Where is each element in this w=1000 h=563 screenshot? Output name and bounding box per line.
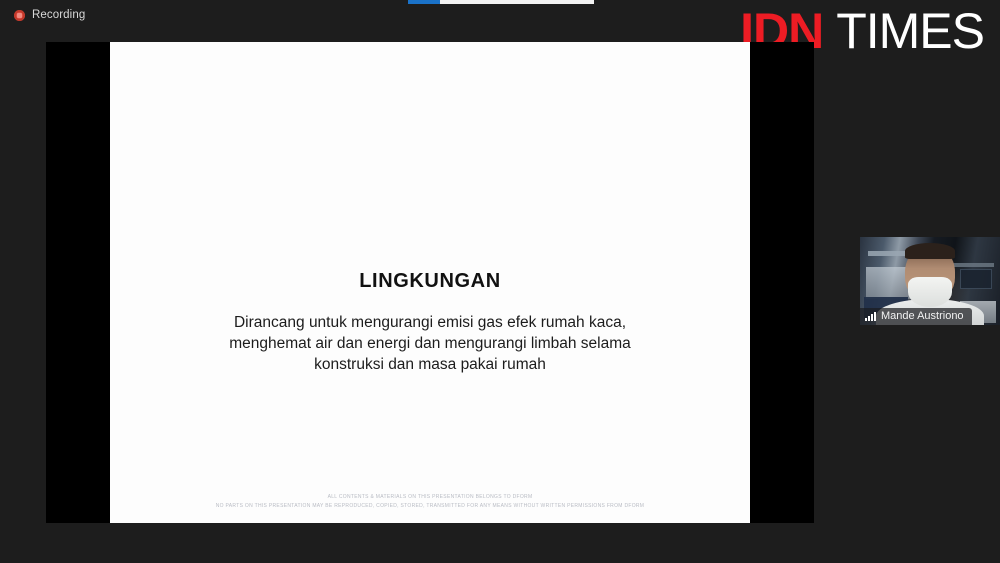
slide-copyright-footer: ALL CONTENTS & MATERIALS ON THIS PRESENT…	[110, 493, 750, 510]
participant-video-tile[interactable]: Mande Austriono	[860, 237, 1000, 325]
signal-bars-icon	[865, 311, 876, 321]
shared-screen-area[interactable]: LINGKUNGAN Dirancang untuk mengurangi em…	[46, 42, 814, 523]
background-shelf-right	[950, 263, 994, 267]
recording-indicator: Recording	[14, 9, 85, 21]
participant-hair	[905, 243, 955, 259]
participant-face-mask	[908, 277, 952, 307]
background-monitor	[960, 269, 992, 289]
loading-bar-fill	[408, 0, 440, 4]
participant-name-label: Mande Austriono	[881, 310, 964, 322]
participant-name-badge: Mande Austriono	[860, 308, 972, 325]
video-conference-window: Recording IDN TIMES LINGKUNGAN Dirancang…	[0, 0, 1000, 563]
record-dot-icon	[14, 10, 25, 21]
slide-footer-line-2: NO PARTS ON THIS PRESENTATION MAY BE REP…	[110, 501, 750, 511]
slide-content: LINGKUNGAN Dirancang untuk mengurangi em…	[110, 270, 750, 376]
presentation-slide: LINGKUNGAN Dirancang untuk mengurangi em…	[110, 42, 750, 523]
watermark-times-text: TIMES	[836, 6, 984, 56]
slide-title: LINGKUNGAN	[134, 270, 726, 293]
slide-subtitle: Dirancang untuk mengurangi emisi gas efe…	[134, 313, 726, 376]
recording-label: Recording	[32, 9, 85, 21]
background-shelf-top	[868, 251, 910, 256]
page-loading-bar	[408, 0, 594, 4]
